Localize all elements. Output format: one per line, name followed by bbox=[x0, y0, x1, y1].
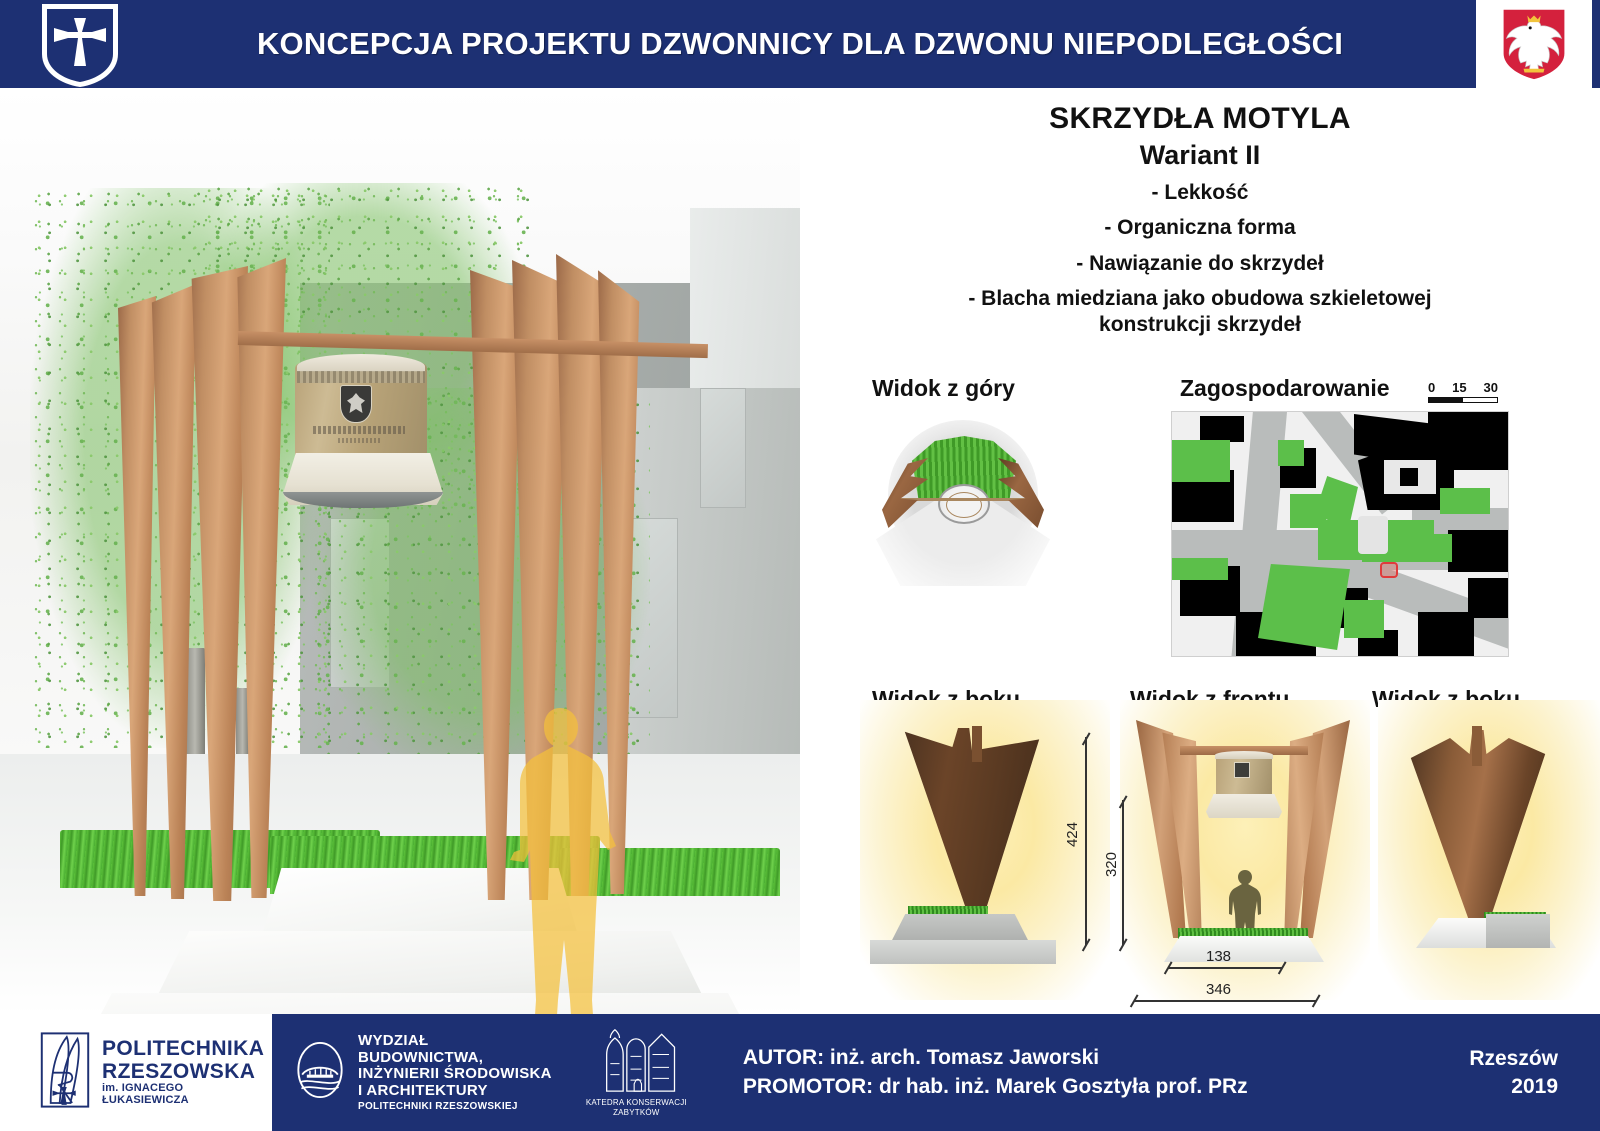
site-plan-map bbox=[1171, 411, 1509, 657]
label-site-plan: Zagospodarowanie bbox=[1180, 375, 1390, 402]
department-line-1: KATEDRA KONSERWACJI bbox=[586, 1098, 687, 1108]
front-view-drawing bbox=[1120, 700, 1370, 1000]
feature-item: - Lekkość bbox=[800, 180, 1600, 206]
dimension-line-width-inner bbox=[1168, 967, 1282, 969]
wing-spine bbox=[972, 726, 982, 762]
plinth-base bbox=[1486, 914, 1550, 948]
top-view-diagram bbox=[868, 412, 1058, 592]
plinth bbox=[1164, 936, 1324, 962]
credits-block: AUTOR: inż. arch. Tomasz Jaworski PROMOT… bbox=[743, 1044, 1248, 1101]
dimension-line-width-total bbox=[1134, 1000, 1316, 1002]
plinth-base bbox=[870, 940, 1056, 964]
feature-item: - Blacha miedziana jako obudowa szkielet… bbox=[800, 286, 1600, 312]
faculty-line-5: POLITECHNIKI RZESZOWSKIEJ bbox=[358, 1101, 552, 1112]
label-top-view: Widok z góry bbox=[872, 375, 1015, 402]
university-logo-block: POLITECHNIKA RZESZOWSKA im. IGNACEGO ŁUK… bbox=[0, 1014, 272, 1131]
dimension-line-height-total bbox=[1085, 737, 1087, 945]
map-scale-bar: 0 15 30 bbox=[1428, 380, 1498, 410]
human-scale-figure bbox=[498, 700, 633, 1014]
side-view-right-drawing bbox=[1378, 700, 1600, 1000]
dimension-value-inner-width: 138 bbox=[1206, 948, 1231, 965]
author-credit: AUTOR: inż. arch. Tomasz Jaworski bbox=[743, 1044, 1248, 1072]
rzeszow-coat-of-arms-icon bbox=[38, 2, 122, 88]
bell-skirt bbox=[1206, 794, 1282, 818]
map-green-area bbox=[1344, 600, 1384, 638]
bell-inscription bbox=[313, 426, 405, 434]
place-year-block: Rzeszów 2019 bbox=[1469, 1045, 1558, 1100]
bell-inscription-secondary bbox=[338, 438, 382, 443]
bell-crown bbox=[297, 354, 425, 372]
faculty-line-1: WYDZIAŁ bbox=[358, 1033, 552, 1050]
monument-location-marker bbox=[1380, 562, 1398, 578]
feature-item: - Organiczna forma bbox=[800, 215, 1600, 241]
side-view-left-drawing bbox=[860, 700, 1110, 1000]
wing-spine bbox=[1472, 726, 1482, 766]
map-building bbox=[1400, 468, 1418, 486]
dimension-value-total-width: 346 bbox=[1206, 981, 1231, 998]
scale-tick-15: 15 bbox=[1452, 380, 1466, 395]
map-green-area bbox=[1278, 440, 1304, 466]
heritage-building-icon bbox=[586, 1027, 687, 1098]
map-building bbox=[1468, 578, 1509, 618]
department-name: KATEDRA KONSERWACJI ZABYTKÓW bbox=[586, 1098, 687, 1117]
board-header: KONCEPCJA PROJEKTU DZWONNICY DLA DZWONU … bbox=[0, 0, 1600, 88]
map-green-area bbox=[1440, 488, 1490, 514]
bell-ornament-band bbox=[297, 371, 425, 383]
map-building bbox=[1418, 612, 1474, 657]
polish-eagle-icon bbox=[1234, 762, 1250, 778]
faculty-logo-block: WYDZIAŁ BUDOWNICTWA, INŻYNIERII ŚRODOWIS… bbox=[296, 1033, 552, 1112]
promoter-credit: PROMOTOR: dr hab. inż. Marek Gosztyła pr… bbox=[743, 1073, 1248, 1101]
presentation-board: KONCEPCJA PROJEKTU DZWONNICY DLA DZWONU … bbox=[0, 0, 1600, 1131]
map-green-area bbox=[1172, 440, 1230, 482]
bell-crown bbox=[1215, 751, 1273, 759]
dimension-value-total-height: 424 bbox=[1064, 822, 1081, 847]
faculty-line-3: INŻYNIERII ŚRODOWISKA bbox=[358, 1066, 552, 1083]
map-green-area bbox=[1258, 564, 1350, 650]
polish-eagle-emblem-icon bbox=[1476, 0, 1592, 88]
faculty-name: WYDZIAŁ BUDOWNICTWA, INŻYNIERII ŚRODOWIS… bbox=[358, 1033, 552, 1112]
university-line-3: im. IGNACEGO ŁUKASIEWICZA bbox=[102, 1083, 272, 1107]
building-window bbox=[700, 388, 746, 508]
polish-eagle-icon bbox=[340, 385, 372, 423]
department-line-2: ZABYTKÓW bbox=[586, 1108, 687, 1118]
feature-item: - Nawiązanie do skrzydeł bbox=[800, 251, 1600, 277]
university-line-2: RZESZOWSKA bbox=[102, 1061, 272, 1084]
faculty-line-4: I ARCHITEKTURY bbox=[358, 1083, 552, 1100]
top-view-inner-ring bbox=[946, 492, 982, 518]
year-label: 2019 bbox=[1469, 1073, 1558, 1100]
dimension-value-wing-height: 320 bbox=[1103, 852, 1120, 877]
university-line-1: POLITECHNIKA bbox=[102, 1038, 272, 1061]
city-label: Rzeszów bbox=[1469, 1045, 1558, 1072]
scale-tick-30: 30 bbox=[1484, 380, 1498, 395]
department-logo-block: KATEDRA KONSERWACJI ZABYTKÓW bbox=[586, 1027, 687, 1117]
map-building bbox=[1200, 416, 1244, 442]
project-variant: Wariant II bbox=[800, 140, 1600, 171]
bell-tower-3d-visualization bbox=[0, 88, 800, 1014]
map-building bbox=[1448, 530, 1509, 572]
title-block: SKRZYDŁA MOTYLA Wariant II - Lekkość - O… bbox=[800, 92, 1600, 352]
prz-logo-icon bbox=[40, 1031, 90, 1114]
map-plaza bbox=[1358, 516, 1388, 554]
scale-tick-0: 0 bbox=[1428, 380, 1435, 395]
project-name: SKRZYDŁA MOTYLA bbox=[800, 102, 1600, 136]
feature-item-continued: konstrukcji skrzydeł bbox=[800, 312, 1600, 338]
map-green-area bbox=[1172, 558, 1228, 580]
monument-plinth-base bbox=[70, 993, 770, 1014]
university-name: POLITECHNIKA RZESZOWSKA im. IGNACEGO ŁUK… bbox=[102, 1038, 272, 1107]
page-title: KONCEPCJA PROJEKTU DZWONNICY DLA DZWONU … bbox=[257, 26, 1343, 62]
faculty-line-2: BUDOWNICTWA, bbox=[358, 1050, 552, 1067]
dimension-line-height-wing bbox=[1122, 800, 1124, 945]
faculty-bridge-logo-icon bbox=[296, 1040, 344, 1105]
